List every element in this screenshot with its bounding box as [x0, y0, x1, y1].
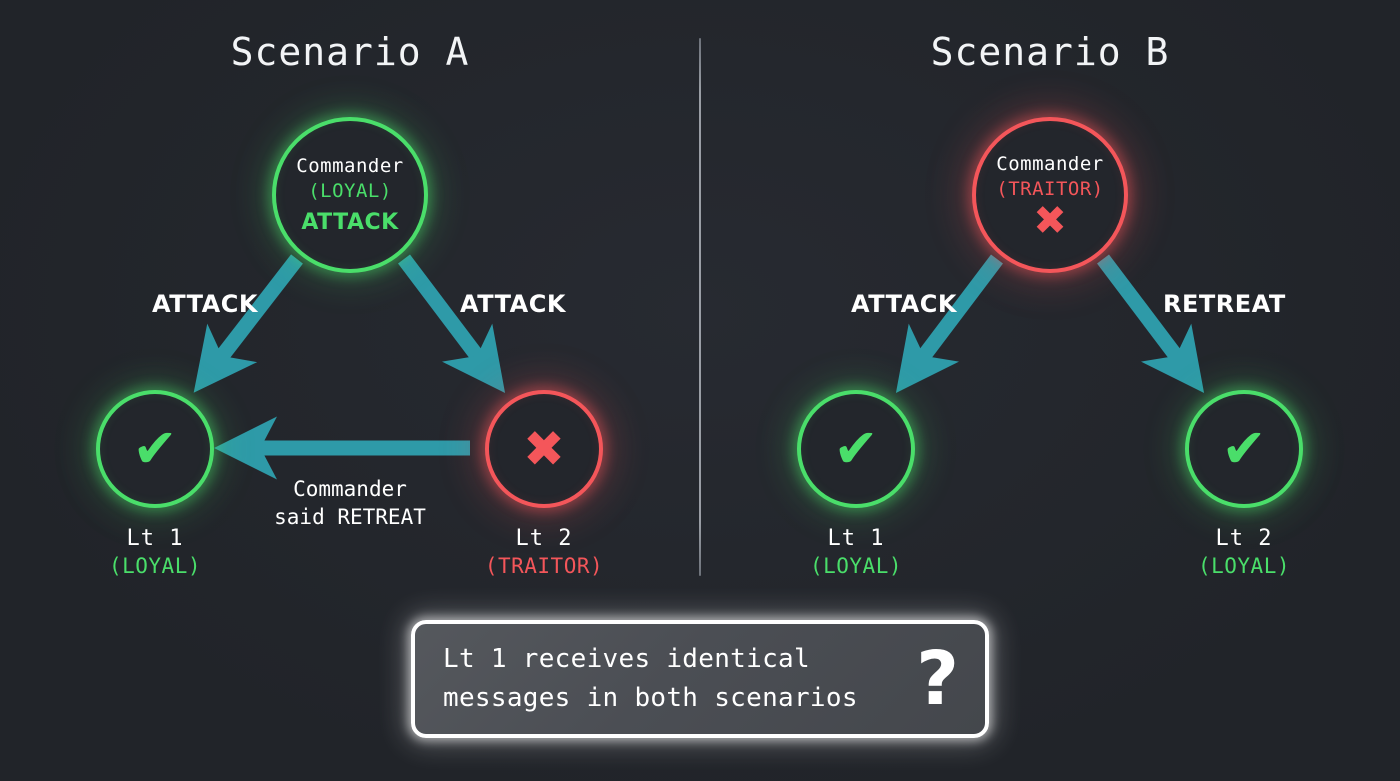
caption-b-lt2-allegiance: (LOYAL): [1134, 553, 1354, 580]
scenario-divider: [699, 38, 701, 576]
edge-label-b-commander-lt2: RETREAT: [1163, 290, 1286, 318]
conclusion-line2: messages in both scenarios: [443, 679, 858, 718]
check-icon: ✔: [833, 422, 878, 476]
caption-b-lt2-name: Lt 2: [1134, 525, 1354, 553]
caption-a-lt1-allegiance: (LOYAL): [45, 553, 265, 580]
edge-label-b-commander-lt1: ATTACK: [851, 290, 957, 318]
edge-label-a-lt2-to-lt1: Commander said RETREAT: [240, 475, 460, 532]
node-b-commander[interactable]: Commander (TRAITOR) ✖: [972, 117, 1128, 273]
conclusion-callout: Lt 1 receives identical messages in both…: [411, 620, 989, 738]
cross-icon: ✖: [1033, 205, 1067, 237]
conclusion-callout-text: Lt 1 receives identical messages in both…: [443, 640, 858, 718]
edge-label-a-commander-lt2: ATTACK: [460, 290, 566, 318]
check-icon: ✔: [132, 422, 177, 476]
caption-a-lt1-name: Lt 1: [45, 525, 265, 553]
caption-b-lt1-allegiance: (LOYAL): [746, 553, 966, 580]
node-a-lt1[interactable]: ✔: [96, 390, 214, 508]
node-a-commander-order: ATTACK: [301, 210, 398, 235]
node-b-commander-role: Commander: [996, 153, 1103, 177]
edge-label-a-line2: said RETREAT: [240, 503, 460, 531]
caption-a-lt2-allegiance: (TRAITOR): [434, 553, 654, 580]
diagram-canvas: Scenario A Scenario B Commander (LOYAL) …: [0, 0, 1400, 781]
scenario-b-title: Scenario B: [700, 30, 1400, 74]
node-a-commander[interactable]: Commander (LOYAL) ATTACK: [272, 117, 428, 273]
node-a-lt2[interactable]: ✖: [485, 390, 603, 508]
node-a-commander-role: Commander: [296, 155, 403, 179]
caption-a-lt2-name: Lt 2: [434, 525, 654, 553]
edge-label-a-line1: Commander: [240, 475, 460, 503]
node-b-lt2[interactable]: ✔: [1185, 390, 1303, 508]
caption-b-lt1: Lt 1 (LOYAL): [746, 525, 966, 580]
cross-icon: ✖: [523, 424, 565, 474]
scenario-a-title: Scenario A: [0, 30, 700, 74]
caption-a-lt1: Lt 1 (LOYAL): [45, 525, 265, 580]
question-mark-icon: ?: [916, 642, 959, 716]
node-a-commander-allegiance: (LOYAL): [308, 179, 392, 204]
node-b-lt1[interactable]: ✔: [797, 390, 915, 508]
caption-b-lt1-name: Lt 1: [746, 525, 966, 553]
caption-a-lt2: Lt 2 (TRAITOR): [434, 525, 654, 580]
conclusion-line1: Lt 1 receives identical: [443, 640, 858, 679]
edge-label-a-commander-lt1: ATTACK: [152, 290, 258, 318]
check-icon: ✔: [1221, 422, 1266, 476]
caption-b-lt2: Lt 2 (LOYAL): [1134, 525, 1354, 580]
